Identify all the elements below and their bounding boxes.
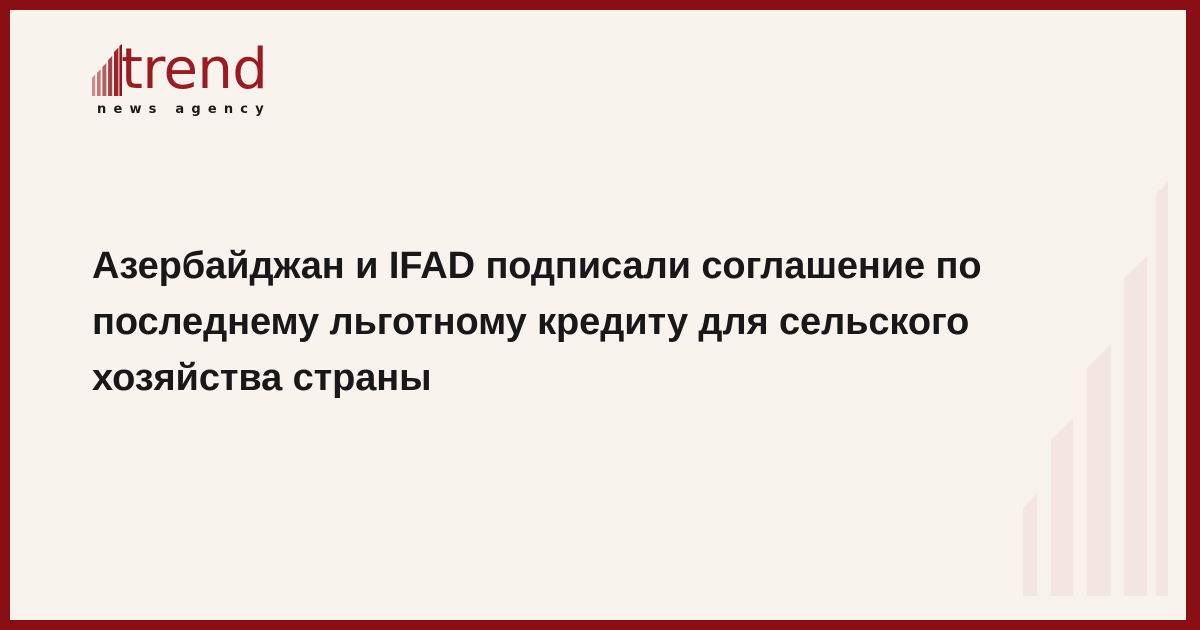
social-share-card: trend news agency Азербайджан и IFAD под… (0, 0, 1200, 630)
border-top (0, 0, 1200, 10)
border-left (0, 0, 10, 630)
border-bottom (0, 620, 1200, 630)
border-right (1186, 0, 1200, 630)
logo-tagline: news agency (97, 102, 271, 117)
rising-bars-watermark-icon (1023, 168, 1168, 596)
logo-top-row: trend (92, 40, 271, 96)
rising-bars-icon (92, 44, 122, 96)
logo-wordmark: trend (121, 44, 267, 96)
headline-text: Азербайджан и IFAD подписали соглашение … (92, 238, 1022, 406)
brand-logo[interactable]: trend news agency (92, 40, 271, 117)
